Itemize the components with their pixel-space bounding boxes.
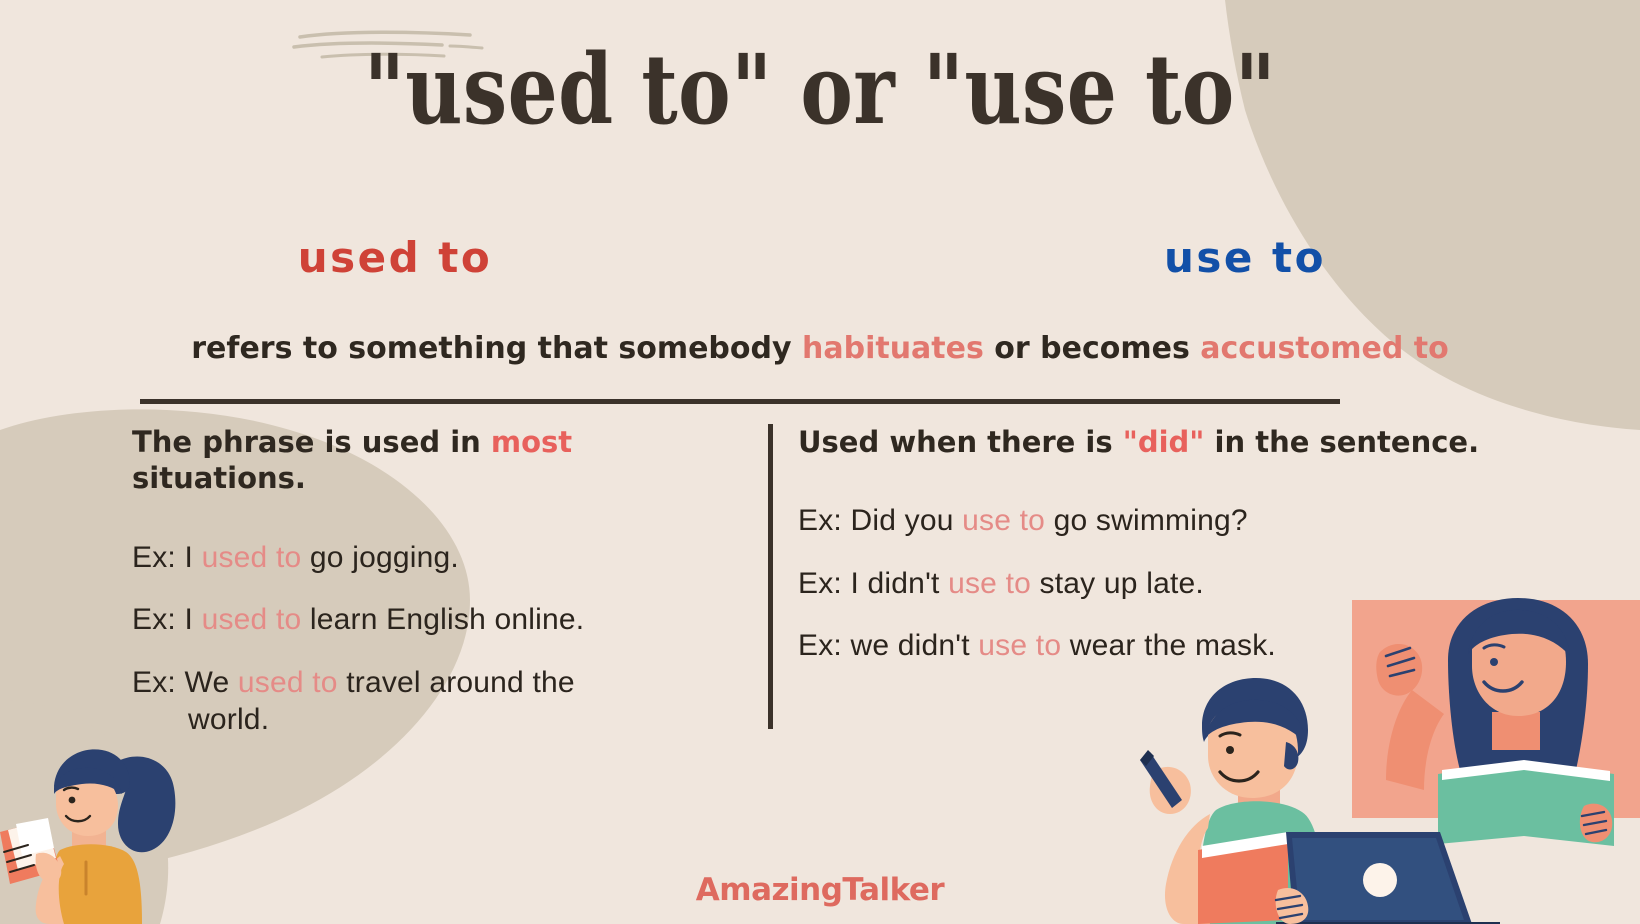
right-rule-highlight: "did" — [1123, 425, 1205, 459]
shared-definition: refers to something that somebody habitu… — [0, 331, 1640, 366]
example-post: go jogging. — [301, 541, 459, 574]
left-rule-part-2: situations. — [132, 461, 306, 495]
example-highlight: used to — [202, 541, 302, 574]
right-rule-part-1: Used when there is — [798, 425, 1123, 459]
example-pre: Ex: I didn't — [798, 567, 948, 600]
example-post: go swimming? — [1045, 504, 1248, 537]
brand-logo: AmazingTalker — [0, 872, 1640, 908]
example-highlight: use to — [978, 629, 1061, 662]
definition-part-2: or becomes — [984, 331, 1200, 366]
example-post: travel around the — [338, 666, 575, 699]
column-used-to: The phrase is used in most situations. E… — [0, 424, 768, 764]
definition-highlight-habituates: habituates — [802, 331, 984, 366]
infographic-canvas: "used to" or "use to" used to use to ref… — [0, 0, 1640, 924]
left-usage-rule: The phrase is used in most situations. — [132, 424, 744, 497]
example-highlight: use to — [948, 567, 1031, 600]
title-container: "used to" or "use to" — [0, 42, 1640, 138]
definition-part-1: refers to something that somebody — [191, 331, 802, 366]
left-rule-part-1: The phrase is used in — [132, 425, 491, 459]
example-pre: Ex: Did you — [798, 504, 962, 537]
example-pre: Ex: we didn't — [798, 629, 978, 662]
right-rule-part-2: in the sentence. — [1204, 425, 1479, 459]
column-headings: used to use to — [0, 233, 1640, 282]
example-highlight: use to — [962, 504, 1045, 537]
list-item: Ex: Did you use to go swimming? — [798, 502, 1620, 540]
list-item: Ex: I used to learn English online. — [132, 601, 744, 639]
page-title: "used to" or "use to" — [148, 42, 1493, 138]
example-highlight: used to — [238, 666, 338, 699]
left-rule-highlight: most — [491, 425, 572, 459]
example-pre: Ex: I — [132, 541, 202, 574]
example-highlight: used to — [202, 603, 302, 636]
horizontal-divider — [140, 399, 1340, 404]
definition-highlight-accustomed: accustomed to — [1200, 331, 1448, 366]
example-pre: Ex: We — [132, 666, 238, 699]
example-pre: Ex: I — [132, 603, 202, 636]
list-item: Ex: I used to go jogging. — [132, 539, 744, 577]
heading-used-to: used to — [0, 233, 830, 282]
heading-use-to: use to — [830, 233, 1640, 282]
example-post: learn English online. — [301, 603, 584, 636]
right-usage-rule: Used when there is "did" in the sentence… — [798, 424, 1620, 460]
